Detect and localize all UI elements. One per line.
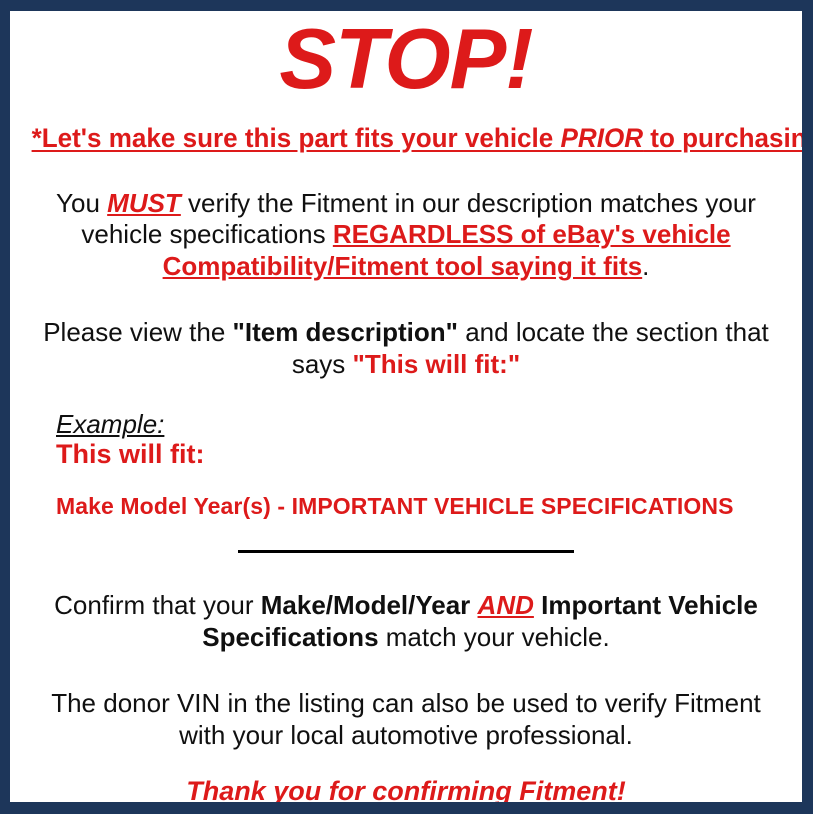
- notice-panel: STOP! *Let's make sure this part fits yo…: [10, 11, 802, 802]
- subtitle-banner: *Let's make sure this part fits your veh…: [32, 124, 781, 154]
- example-block: Example: This will fit: Make Model Year(…: [18, 410, 794, 519]
- subtitle-text-before: *Let's make sure this part fits your veh…: [32, 123, 561, 153]
- example-fit-heading: This will fit:: [56, 440, 794, 470]
- emphasis-and: AND: [478, 590, 534, 620]
- paragraph-confirm: Confirm that your Make/Model/Year AND Im…: [18, 590, 794, 653]
- subtitle-text-after: to purchasing*: [643, 123, 802, 153]
- paragraph-item-description: Please view the "Item description" and l…: [18, 317, 794, 380]
- emphasis-this-will-fit: "This will fit:": [353, 349, 521, 379]
- emphasis-item-description: "Item description": [233, 317, 458, 347]
- confirm-text-1: Confirm that your: [54, 590, 261, 620]
- thank-you-line: Thank you for confirming Fitment!: [18, 777, 794, 802]
- fitment-notice-banner: STOP! *Let's make sure this part fits yo…: [0, 0, 813, 814]
- confirm-space-1: [470, 590, 477, 620]
- paragraph-must-verify: You MUST verify the Fitment in our descr…: [18, 188, 794, 283]
- example-label: Example:: [56, 410, 164, 439]
- emphasis-make-model-year: Make/Model/Year: [261, 590, 471, 620]
- horizontal-divider: [238, 550, 574, 553]
- view-text-1: Please view the: [43, 317, 232, 347]
- confirm-text-2: match your vehicle.: [379, 622, 610, 652]
- subtitle-emphasis-prior: PRIOR: [561, 123, 644, 153]
- divider-wrapper: [18, 542, 794, 560]
- example-spec-line: Make Model Year(s) - IMPORTANT VEHICLE S…: [56, 494, 794, 519]
- emphasis-must: MUST: [107, 188, 181, 218]
- must-text-3: .: [642, 251, 649, 281]
- paragraph-donor-vin: The donor VIN in the listing can also be…: [18, 688, 794, 751]
- stop-headline: STOP!: [18, 17, 794, 102]
- must-text-1: You: [56, 188, 107, 218]
